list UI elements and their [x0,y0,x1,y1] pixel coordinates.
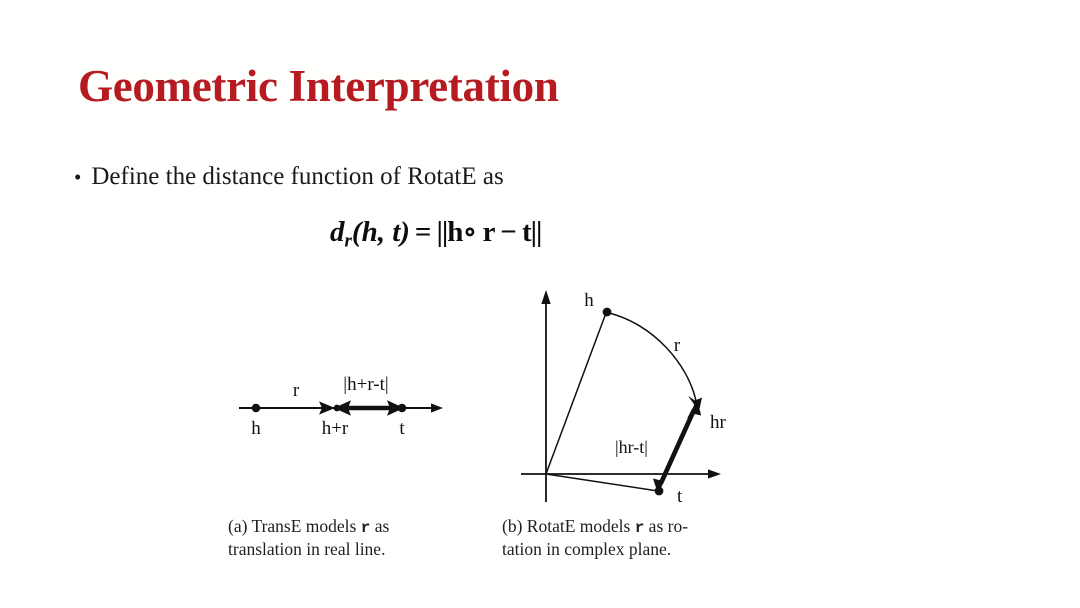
segment-hr-minus-t-shaft [661,410,694,483]
point-hplusr-dot [334,405,341,412]
bullet-list-item: • Define the distance function of RotatE… [74,163,504,191]
label-point-t: t [399,418,405,439]
point-h-dot [603,308,612,317]
slide-canvas: Geometric Interpretation • Define the di… [0,0,1080,608]
caption-b-line1-tail: as ro- [649,516,688,536]
caption-a-line1-tail: as [375,516,390,536]
point-t-dot [655,487,664,496]
label-point-hplusr: h+r [322,418,349,439]
caption-b-line2: tation in complex plane. [502,538,742,560]
vector-origin-to-t [546,474,658,491]
label-segment-r: r [293,380,300,401]
figure-transe-real-line: h h+r t r |h+r-t| [215,355,470,455]
label-point-hr: hr [710,412,727,433]
caption-a-line1: TransE models [252,516,357,536]
formula-equals: = [415,216,432,248]
caption-a-prefix: (a) [228,516,247,536]
bullet-item-label: Define the distance function of RotatE a… [91,163,503,191]
point-t-dot [398,404,407,413]
rotation-arc-r [609,313,696,401]
formula-lhs-function: d [330,216,345,248]
point-hr-dot [694,403,700,409]
formula-lhs-args: (h, t) [352,216,410,248]
distance-function-formula: dr(h, t)=||h∘ r − t|| [330,214,541,252]
caption-b-prefix: (b) [502,516,522,536]
label-point-h: h [251,418,261,439]
imaginary-axis-arrowhead-icon [541,290,550,304]
figure-b-caption: (b) RotatE models r as ro- tation in com… [502,515,742,561]
label-segment-hr-minus-t: |hr-t| [615,437,648,457]
figure-a-caption: (a) TransE models r as translation in re… [228,515,458,561]
formula-rhs: ||h∘ r − t|| [436,216,541,248]
page-title: Geometric Interpretation [78,60,559,112]
bullet-marker-icon: • [74,167,81,188]
label-segment-h-plus-r-minus-t: |h+r-t| [343,374,388,395]
label-rotation-r: r [674,335,681,356]
figure-rotate-complex-plane: h hr t r |hr-t| [505,280,735,510]
label-point-h: h [584,290,594,311]
caption-b-mono-relation: r [635,519,645,537]
caption-b-line1: RotatE models [527,516,631,536]
formula-lhs-subscript: r [345,230,352,251]
point-h-dot [252,404,261,413]
real-axis-arrowhead-icon [708,469,721,478]
caption-a-line2: translation in real line. [228,538,458,560]
label-point-t: t [677,486,683,507]
vector-origin-to-h [546,313,606,474]
real-line-arrowhead-icon [431,403,443,412]
caption-a-mono-relation: r [361,519,371,537]
